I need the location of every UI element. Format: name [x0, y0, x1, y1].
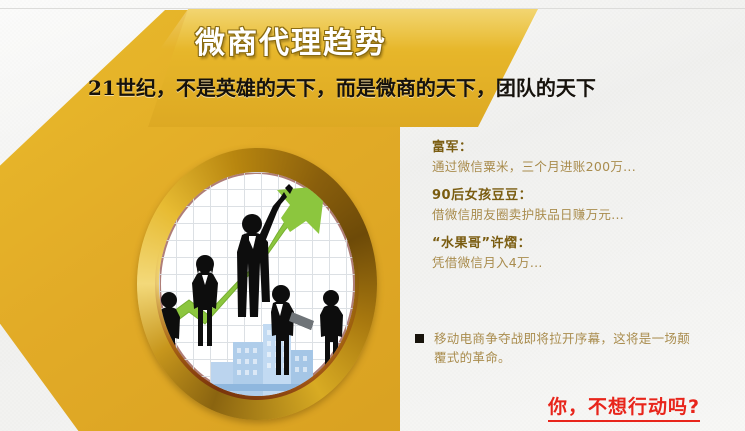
- top-divider-line: [0, 8, 745, 9]
- photo-disc: [159, 172, 355, 396]
- call-to-action-text: 你，不想行动吗?: [548, 392, 700, 422]
- story-name: 90后女孩豆豆：: [432, 186, 737, 205]
- story-name: “水果哥”许熠：: [432, 234, 737, 253]
- story-description: 通过微信粟米，三个月进账200万...: [432, 157, 737, 177]
- photo-illustration: [159, 172, 355, 396]
- circular-photo: [137, 148, 377, 420]
- page-subtitle: 21世纪，不是英雄的天下，而是微商的天下，团队的天下: [88, 72, 596, 101]
- square-bullet-icon: [415, 334, 424, 343]
- note-text: 移动电商争夺战即将拉开序幕，这将是一场颠覆式的革命。: [434, 329, 694, 367]
- list-item: “水果哥”许熠： 凭借微信月入4万...: [432, 234, 737, 273]
- story-description: 凭借微信月入4万...: [432, 253, 737, 273]
- woman-silhouette: [192, 255, 218, 346]
- city-buildings-icon: [199, 324, 323, 396]
- promo-banner-canvas: 微商代理趋势 21世纪，不是英雄的天下，而是微商的天下，团队的天下: [0, 0, 745, 431]
- page-title: 微商代理趋势: [195, 18, 495, 62]
- list-item: 富军： 通过微信粟米，三个月进账200万...: [432, 138, 737, 177]
- story-description: 借微信朋友圈卖护肤品日赚万元...: [432, 205, 737, 225]
- note-callout: 移动电商争夺战即将拉开序幕，这将是一场颠覆式的革命。: [415, 329, 735, 367]
- man-left-silhouette: [159, 292, 180, 372]
- man-right-silhouette: [320, 290, 343, 374]
- stories-list: 富军： 通过微信粟米，三个月进账200万... 90后女孩豆豆： 借微信朋友圈卖…: [432, 138, 737, 282]
- list-item: 90后女孩豆豆： 借微信朋友圈卖护肤品日赚万元...: [432, 186, 737, 225]
- story-name: 富军：: [432, 138, 737, 157]
